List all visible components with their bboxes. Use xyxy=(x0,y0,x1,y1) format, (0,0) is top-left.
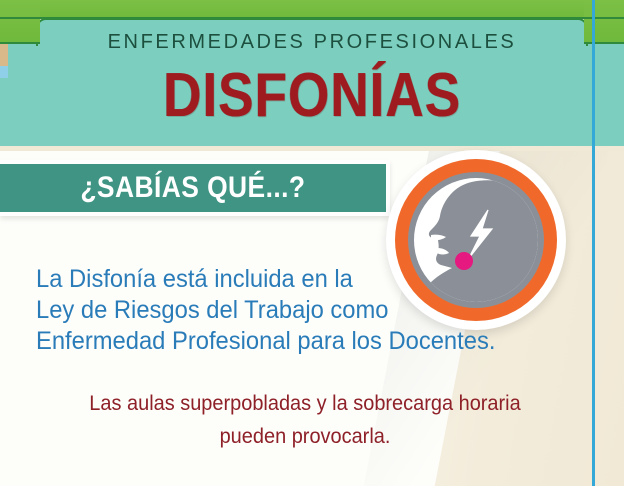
blue-paragraph-line-1: La Disfonía está incluida en la xyxy=(36,264,530,295)
did-you-know-banner: ¿SABÍAS QUÉ...? xyxy=(0,164,386,212)
left-blue-strip xyxy=(0,66,8,78)
poster-kicker: ENFERMEDADES PROFESIONALES xyxy=(0,31,624,54)
blue-paragraph: La Disfonía está incluida en la Ley de R… xyxy=(36,264,530,357)
blue-paragraph-line-2: Ley de Riesgos del Trabajo como xyxy=(36,295,530,326)
red-paragraph-line-2: pueden provocarla. xyxy=(53,420,557,453)
red-paragraph-line-1: Las aulas superpobladas y la sobrecarga … xyxy=(53,387,557,420)
right-blue-rule xyxy=(592,0,595,486)
infographic-poster: ENFERMEDADES PROFESIONALES DISFONÍAS ¿SA… xyxy=(0,0,624,486)
top-green-bar-underline xyxy=(0,17,624,19)
red-paragraph: Las aulas superpobladas y la sobrecarga … xyxy=(53,387,557,453)
poster-headline: DISFONÍAS xyxy=(44,62,581,130)
did-you-know-label: ¿SABÍAS QUÉ...? xyxy=(80,171,305,205)
header-bottom-seam xyxy=(0,146,624,151)
blue-paragraph-line-3: Enfermedad Profesional para los Docentes… xyxy=(36,326,530,357)
